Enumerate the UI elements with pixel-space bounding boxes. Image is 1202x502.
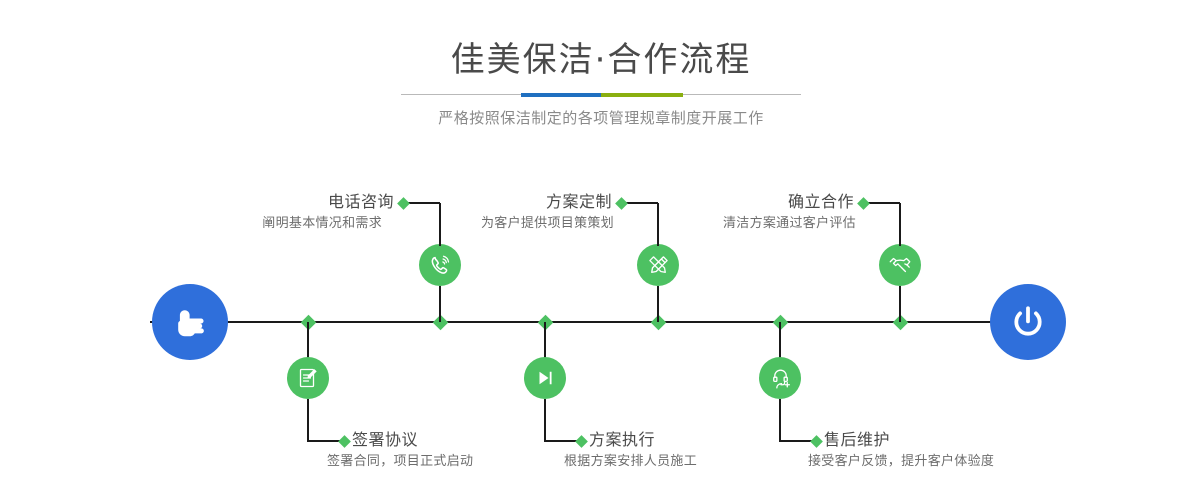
icon-bubble-step-6[interactable] bbox=[879, 244, 921, 286]
step-label-4: 方案定制 为客户提供项目策策划 bbox=[337, 191, 612, 235]
label-marker-step-5 bbox=[810, 435, 823, 448]
riser-step-2 bbox=[439, 286, 441, 322]
riser-step-1 bbox=[307, 322, 309, 358]
label-marker-step-3 bbox=[575, 435, 588, 448]
riser-drop-step-1 bbox=[307, 399, 309, 441]
document-edit-icon bbox=[296, 366, 320, 390]
timeline-axis bbox=[150, 321, 1050, 323]
step-desc-4: 为客户提供项目策策划 bbox=[337, 213, 614, 235]
riser-rise-step-6 bbox=[899, 203, 901, 246]
step-label-3: 方案执行 根据方案安排人员施工 bbox=[589, 429, 697, 473]
step-label-6: 确立合作 清洁方案通过客户评估 bbox=[579, 191, 854, 235]
riser-step-4 bbox=[657, 286, 659, 322]
step-label-5: 售后维护 接受客户反馈，提升客户体验度 bbox=[824, 429, 994, 473]
power-icon bbox=[1006, 300, 1050, 344]
icon-bubble-step-5[interactable] bbox=[759, 357, 801, 399]
riser-drop-step-5 bbox=[779, 399, 781, 441]
icon-bubble-step-3[interactable] bbox=[524, 357, 566, 399]
step-title-6: 确立合作 bbox=[579, 191, 854, 213]
title-divider bbox=[401, 93, 801, 97]
step-title-4: 方案定制 bbox=[337, 191, 612, 213]
timeline-start-node[interactable] bbox=[152, 284, 228, 360]
label-marker-step-1 bbox=[338, 435, 351, 448]
step-title-3: 方案执行 bbox=[589, 429, 697, 451]
cooperation-process-infographic: 佳美保洁·合作流程 严格按照保洁制定的各项管理规章制度开展工作 bbox=[0, 0, 1202, 502]
icon-bubble-step-1[interactable] bbox=[287, 357, 329, 399]
step-desc-1: 签署合同，项目正式启动 bbox=[327, 451, 473, 473]
step-desc-6: 清洁方案通过客户评估 bbox=[579, 213, 856, 235]
riser-step-3 bbox=[544, 322, 546, 358]
elbow-step-1 bbox=[307, 440, 341, 442]
step-desc-5: 接受客户反馈，提升客户体验度 bbox=[808, 451, 994, 473]
elbow-step-5 bbox=[779, 440, 813, 442]
riser-step-6 bbox=[899, 286, 901, 322]
timeline-end-node[interactable] bbox=[990, 284, 1066, 360]
step-label-1: 签署协议 签署合同，项目正式启动 bbox=[352, 429, 473, 473]
handshake-icon bbox=[887, 252, 913, 278]
divider-segment-blue bbox=[521, 93, 601, 97]
page-title: 佳美保洁·合作流程 bbox=[0, 38, 1202, 82]
play-execute-icon bbox=[533, 366, 557, 390]
label-marker-step-6 bbox=[857, 197, 870, 210]
elbow-step-3 bbox=[544, 440, 578, 442]
phone-call-icon bbox=[428, 253, 453, 278]
riser-step-5 bbox=[779, 322, 781, 358]
headset-support-icon bbox=[768, 366, 793, 391]
icon-bubble-step-4[interactable] bbox=[637, 244, 679, 286]
step-title-5: 售后维护 bbox=[824, 429, 994, 451]
pointing-hand-icon bbox=[169, 301, 211, 343]
step-title-1: 签署协议 bbox=[352, 429, 473, 451]
pencil-design-icon bbox=[646, 253, 671, 278]
divider-segment-green bbox=[601, 93, 683, 97]
page-subtitle: 严格按照保洁制定的各项管理规章制度开展工作 bbox=[0, 106, 1202, 130]
elbow-step-6 bbox=[866, 202, 900, 204]
icon-bubble-step-2[interactable] bbox=[419, 244, 461, 286]
step-desc-3: 根据方案安排人员施工 bbox=[564, 451, 697, 473]
riser-drop-step-3 bbox=[544, 399, 546, 441]
